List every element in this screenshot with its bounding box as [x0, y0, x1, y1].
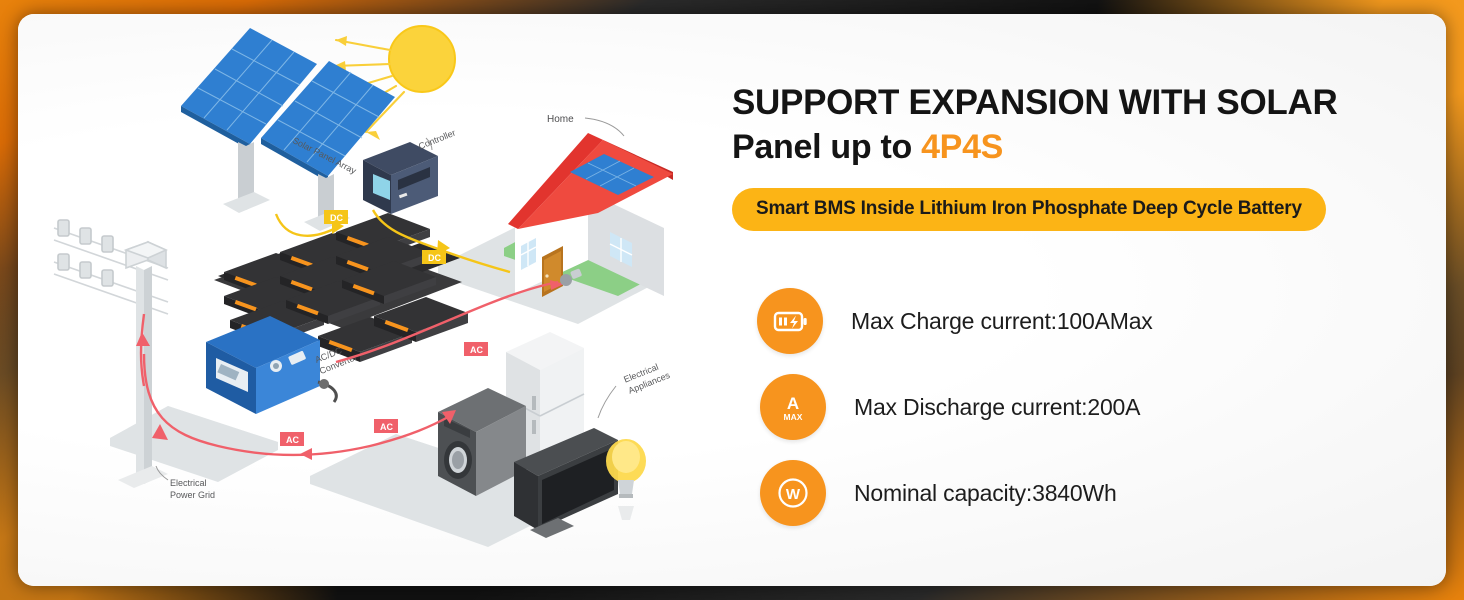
solar-system-diagram: Solar Panel Array Controller	[18, 14, 718, 586]
electrical-power-grid	[54, 220, 168, 488]
feature-max-charge-current: Max Charge current:100AMax	[760, 288, 1153, 354]
svg-text:DC: DC	[330, 213, 343, 223]
ampere-max-icon: A MAX	[760, 374, 826, 440]
subtitle-badge: Smart BMS Inside Lithium Iron Phosphate …	[732, 188, 1326, 231]
headline-line-2: Panel up to 4P4S	[732, 125, 1446, 170]
svg-text:W: W	[786, 486, 801, 503]
headline-highlight: 4P4S	[921, 128, 1003, 166]
svg-text:AC: AC	[470, 345, 483, 355]
feature-label: Max Discharge current:200A	[854, 394, 1140, 421]
svg-text:AC: AC	[380, 422, 393, 432]
svg-text:DC: DC	[428, 253, 441, 263]
headline-line-2-prefix: Panel up to	[732, 128, 921, 166]
page-title: SUPPORT EXPANSION WITH SOLAR Panel up to…	[732, 80, 1446, 170]
svg-text:A: A	[787, 394, 799, 413]
feature-nominal-capacity: W Nominal capacity:3840Wh	[760, 460, 1117, 526]
subtitle-text: Smart BMS Inside Lithium Iron Phosphate …	[756, 198, 1302, 219]
headline-line-1: SUPPORT EXPANSION WITH SOLAR	[732, 80, 1446, 125]
ac-tag-2: AC	[374, 419, 398, 433]
battery-charge-icon	[757, 288, 823, 354]
dc-tag-2: DC	[422, 250, 446, 264]
label-controller: Controller	[417, 128, 457, 152]
ac-tag-3: AC	[280, 432, 304, 446]
solar-controller	[363, 142, 438, 214]
feature-label: Nominal capacity:3840Wh	[854, 480, 1117, 507]
label-power-grid-line2: Power Grid	[170, 490, 215, 500]
feature-label: Max Charge current:100AMax	[851, 308, 1153, 335]
ac-tag-1: AC	[464, 342, 488, 356]
watt-icon: W	[760, 460, 826, 526]
feature-max-discharge-current: A MAX Max Discharge current:200A	[760, 374, 1140, 440]
content-panel: SUPPORT EXPANSION WITH SOLAR Panel up to…	[718, 14, 1446, 586]
sun-icon	[389, 26, 455, 92]
svg-text:AC: AC	[286, 435, 299, 445]
label-power-grid-line1: Electrical	[170, 478, 207, 488]
dc-tag-1: DC	[324, 210, 348, 224]
solar-panel-array	[181, 28, 395, 231]
banner-card: Solar Panel Array Controller	[18, 14, 1446, 586]
svg-text:MAX: MAX	[784, 412, 803, 422]
label-home: Home	[547, 114, 574, 125]
